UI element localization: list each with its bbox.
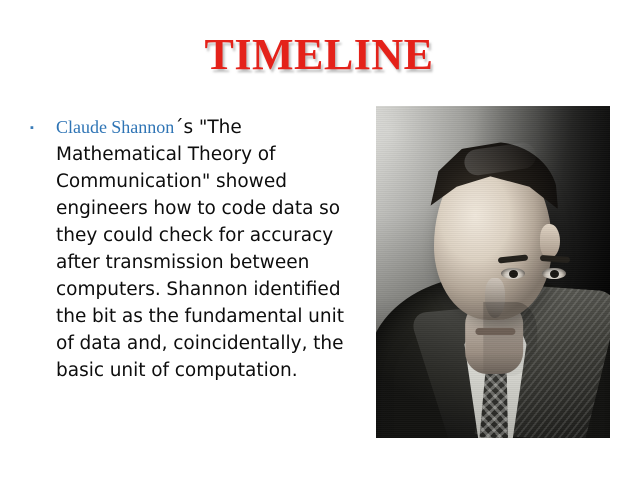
portrait-eyebrow-right [540, 255, 570, 263]
slide-canvas: TIMELINE ▪ Claude Shannon´s "The Mathema… [0, 0, 638, 479]
portrait-eyebrow-left [498, 254, 528, 263]
page-title: TIMELINE [0, 30, 638, 80]
claude-shannon-link[interactable]: Claude Shannon [56, 117, 174, 137]
bullet-item-body: ´s "The Mathematical Theory of Communica… [56, 117, 344, 381]
bullet-list: ▪ Claude Shannon´s "The Mathematical The… [30, 114, 352, 384]
portrait-nose [485, 278, 505, 318]
list-item: ▪ Claude Shannon´s "The Mathematical The… [30, 114, 352, 384]
bullet-marker-icon: ▪ [30, 114, 56, 134]
shannon-portrait-photo [376, 106, 610, 438]
portrait-ear [540, 224, 560, 258]
portrait-pupil-right [550, 270, 559, 278]
portrait-pupil-left [509, 270, 518, 278]
portrait-mouth [475, 328, 515, 335]
portrait-eye-right [542, 268, 566, 279]
portrait-eye-left [501, 268, 525, 279]
bullet-item-text: Claude Shannon´s "The Mathematical Theor… [56, 114, 352, 384]
